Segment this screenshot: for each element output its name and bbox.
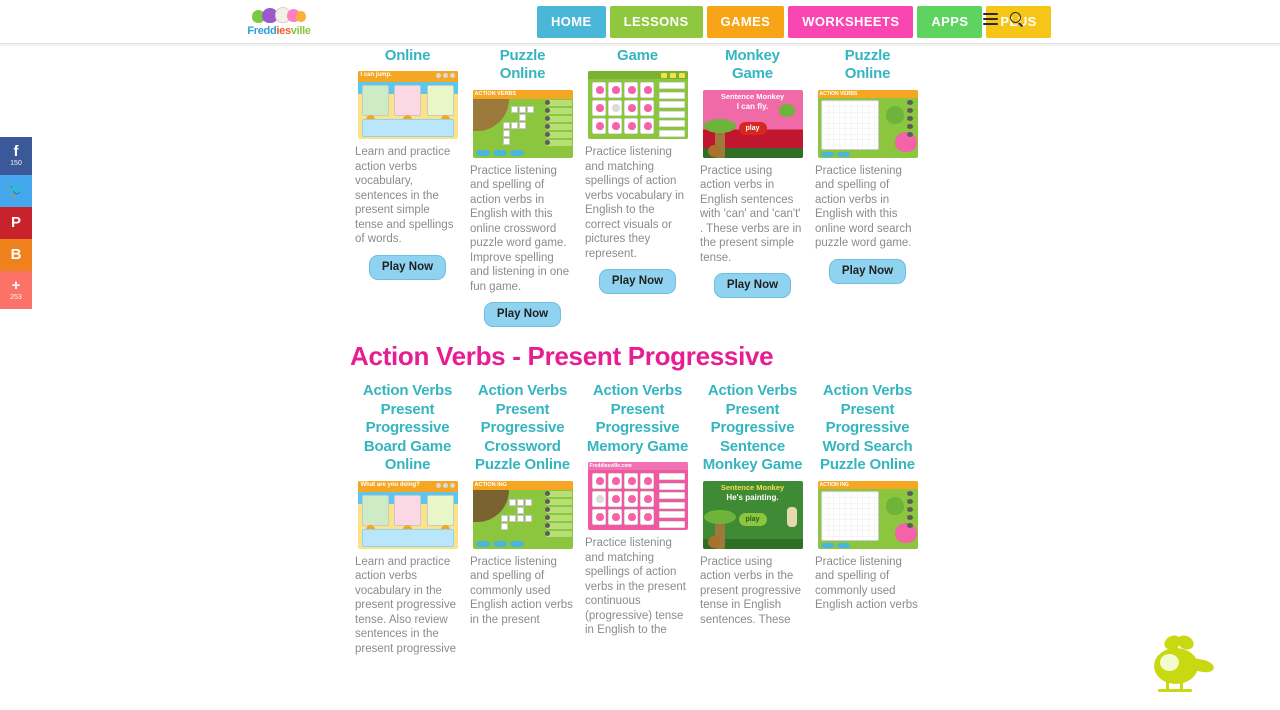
board-game-thumbnail[interactable]: I can jump. [358, 71, 458, 139]
pinterest-icon: P [11, 216, 21, 230]
word-search-thumbnail[interactable]: ACTION ING [818, 481, 918, 549]
game-card-description: Practice listening and spelling of actio… [468, 164, 577, 295]
game-card-title[interactable]: CrosswordPuzzleOnline [468, 44, 577, 84]
game-card-title[interactable]: SentenceMonkeyGame [698, 44, 807, 84]
site-header: Freddiesville HOME LESSONS GAMES WORKSHE… [0, 0, 1280, 44]
game-card-description: Practice listening and spelling of commo… [813, 555, 922, 613]
play-now-button[interactable]: Play Now [599, 269, 676, 294]
nav-item-games[interactable]: GAMES [707, 6, 785, 38]
play-now-button[interactable]: Play Now [484, 302, 561, 327]
nav-item-worksheets[interactable]: WORKSHEETS [788, 6, 913, 38]
game-card-description: Practice listening and spelling of commo… [468, 555, 577, 628]
painter-icon [787, 507, 797, 527]
thumb-caption: Sentence Monkey [703, 92, 803, 101]
game-card-title[interactable]: Action Verbs Present Progressive Word Se… [813, 382, 922, 475]
game-card-board-game: Board GameOnline I can jump. Learn and p… [350, 44, 465, 280]
game-card-word-search-progressive: Action Verbs Present Progressive Word Se… [810, 382, 925, 621]
game-grid-present-simple: Board GameOnline I can jump. Learn and p… [350, 44, 930, 327]
game-card-memory: MemoryGame Practice listening and matchi… [580, 44, 695, 294]
nav-item-lessons[interactable]: LESSONS [610, 6, 703, 38]
facebook-icon: f [14, 145, 19, 159]
game-card-title[interactable]: MemoryGame [583, 44, 692, 65]
game-card-description: Learn and practice action verbs vocabula… [353, 145, 462, 247]
game-card-description: Practice using action verbs in English s… [698, 164, 807, 266]
parrot-icon [779, 104, 795, 117]
sentence-monkey-thumbnail[interactable]: Sentence Monkey He's painting. play [703, 481, 803, 549]
logo-text-a: Fredd [247, 25, 276, 37]
thumb-caption: Freddiesville.com [590, 463, 632, 469]
share-twitter-button[interactable]: 🐦 [0, 175, 32, 207]
game-card-word-search: SearchPuzzleOnline ACTION VERBS Practice… [810, 44, 925, 284]
thumb-caption: ACTION VERBS [820, 91, 858, 97]
logo-text-b: ies [276, 25, 290, 37]
crossword-puzzle-thumbnail[interactable]: ACTION ING [473, 481, 573, 549]
game-card-sentence-monkey: SentenceMonkeyGame Sentence Monkey I can… [695, 44, 810, 298]
board-game-thumbnail[interactable]: What are you doing? [358, 481, 458, 549]
thumb-sentence: He's painting. [703, 493, 803, 502]
thumb-play-button[interactable]: play [739, 122, 767, 135]
logo-blobs-icon [251, 7, 307, 24]
play-now-button[interactable]: Play Now [369, 255, 446, 280]
thumb-caption: ACTION VERBS [475, 91, 517, 97]
game-card-title[interactable]: Action Verbs Present Progressive Crosswo… [468, 382, 577, 475]
share-more-button[interactable]: + 253 [0, 271, 32, 309]
plus-icon: + [12, 279, 21, 293]
game-card-title[interactable]: Board GameOnline [353, 44, 462, 65]
nav-item-apps[interactable]: APPS [917, 6, 982, 38]
game-card-title[interactable]: Action Verbs Present Progressive Sentenc… [698, 382, 807, 475]
game-card-description: Learn and practice action verbs vocabula… [353, 555, 462, 657]
facebook-share-count: 150 [10, 160, 22, 168]
page-content: Board GameOnline I can jump. Learn and p… [0, 44, 1280, 710]
freddie-bird-mascot[interactable] [1146, 634, 1218, 692]
share-pinterest-button[interactable]: P [0, 207, 32, 239]
thumb-caption: I can jump. [361, 72, 392, 78]
game-card-description: Practice listening and matching spelling… [583, 145, 692, 261]
site-logo[interactable]: Freddiesville [250, 5, 308, 39]
game-card-title[interactable]: Action Verbs Present Progressive Board G… [353, 382, 462, 475]
social-share-rail: f 150 🐦 P B + 253 [0, 137, 32, 309]
sentence-monkey-thumbnail[interactable]: Sentence Monkey I can fly. play [703, 90, 803, 158]
nav-item-home[interactable]: HOME [537, 6, 606, 38]
play-now-button[interactable]: Play Now [829, 259, 906, 284]
game-card-crossword: CrosswordPuzzleOnline ACTION VERBS Pract… [465, 44, 580, 327]
section-heading-present-progressive: Action Verbs - Present Progressive [350, 341, 930, 372]
thumb-caption: Sentence Monkey [703, 483, 803, 492]
logo-wordmark: Freddiesville [247, 25, 310, 37]
game-card-board-game-progressive: Action Verbs Present Progressive Board G… [350, 382, 465, 664]
thumb-caption: ACTION ING [820, 482, 849, 488]
game-card-title[interactable]: SearchPuzzleOnline [813, 44, 922, 84]
blogger-icon: B [11, 248, 22, 262]
thumb-caption: ACTION ING [475, 482, 507, 488]
crossword-puzzle-thumbnail[interactable]: ACTION VERBS [473, 90, 573, 158]
game-card-sentence-monkey-progressive: Action Verbs Present Progressive Sentenc… [695, 382, 810, 635]
share-blogger-button[interactable]: B [0, 239, 32, 271]
twitter-icon: 🐦 [7, 184, 26, 198]
logo-text-c: ville [291, 25, 311, 37]
word-search-thumbnail[interactable]: ACTION VERBS [818, 90, 918, 158]
game-card-description: Practice listening and spelling of actio… [813, 164, 922, 251]
game-card-crossword-progressive: Action Verbs Present Progressive Crosswo… [465, 382, 580, 635]
game-card-description: Practice using action verbs in the prese… [698, 555, 807, 628]
share-facebook-button[interactable]: f 150 [0, 137, 32, 175]
game-card-memory-progressive: Action Verbs Present Progressive Memory … [580, 382, 695, 646]
total-share-count: 253 [10, 294, 22, 302]
thumb-play-button[interactable]: play [739, 513, 767, 526]
main-navigation: HOME LESSONS GAMES WORKSHEETS APPS PLUS [537, 6, 1051, 38]
game-card-description: Practice listening and matching spelling… [583, 536, 692, 638]
memory-game-thumbnail[interactable]: Freddiesville.com [588, 462, 688, 530]
game-card-title[interactable]: Action Verbs Present Progressive Memory … [583, 382, 692, 456]
hamburger-icon[interactable] [983, 13, 998, 26]
search-icon[interactable] [1010, 12, 1025, 27]
memory-game-thumbnail[interactable] [588, 71, 688, 139]
thumb-caption: What are you doing? [361, 482, 420, 488]
play-now-button[interactable]: Play Now [714, 273, 791, 298]
game-grid-present-progressive: Action Verbs Present Progressive Board G… [350, 382, 930, 664]
